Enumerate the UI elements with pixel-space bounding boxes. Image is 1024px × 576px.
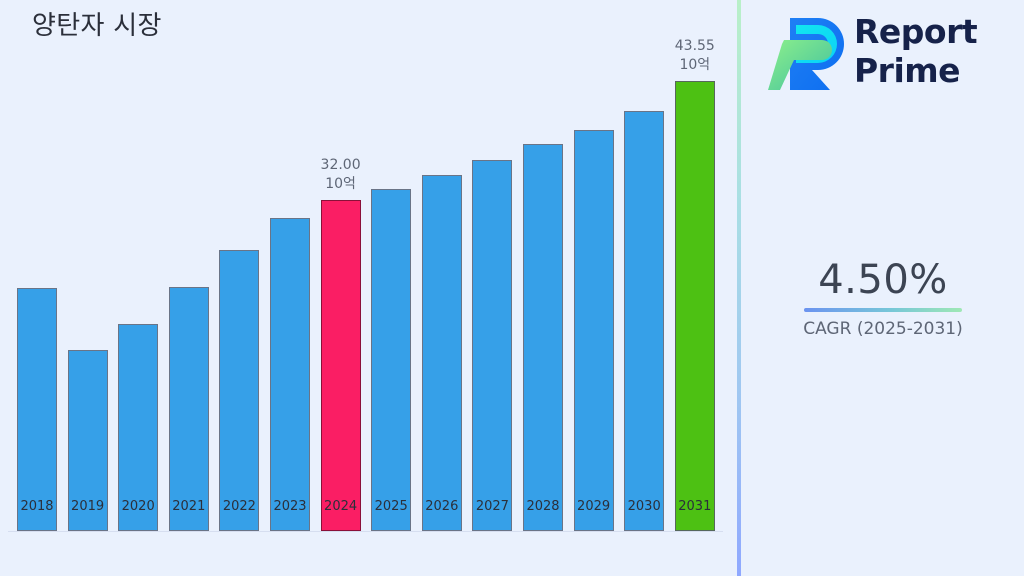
bar-2022[interactable] (219, 250, 259, 531)
bar-2031[interactable] (675, 81, 715, 531)
x-axis-label-2019: 2019 (68, 499, 108, 515)
x-axis-label-2027: 2027 (472, 499, 512, 515)
bar-2029[interactable] (574, 130, 614, 531)
bar-value-label-2031: 43.55 10억 (651, 37, 739, 75)
bar-2021[interactable] (169, 287, 209, 531)
cagr-divider-rule (804, 308, 962, 312)
x-axis-label-2021: 2021 (169, 499, 209, 515)
x-axis-label-2031: 2031 (675, 499, 715, 515)
bar-chart-plot-area: 20182019202020212022202332.00 10억2024202… (0, 0, 738, 576)
bar-2026[interactable] (422, 175, 462, 531)
bar-2023[interactable] (270, 218, 310, 531)
cagr-label: CAGR (2025-2031) (742, 318, 1024, 340)
report-prime-logo: Report Prime (766, 10, 1006, 94)
chart-screenshot: 양탄자 시장 20182019202020212022202332.00 10억… (0, 0, 1024, 576)
x-axis-baseline (8, 531, 723, 532)
panel-divider (737, 0, 741, 576)
x-axis-label-2029: 2029 (574, 499, 614, 515)
bar-2030[interactable] (624, 111, 664, 531)
cagr-block: 4.50% CAGR (2025-2031) (742, 255, 1024, 340)
cagr-value: 4.50% (742, 255, 1024, 305)
bar-2025[interactable] (371, 189, 411, 531)
report-prime-r-mark-icon (766, 12, 852, 92)
x-axis-label-2026: 2026 (422, 499, 462, 515)
bar-2024[interactable] (321, 200, 361, 531)
chart-panel: 양탄자 시장 20182019202020212022202332.00 10억… (0, 0, 738, 576)
x-axis-label-2023: 2023 (270, 499, 310, 515)
brand-wordmark: Report Prime (854, 12, 1004, 90)
x-axis-label-2030: 2030 (624, 499, 664, 515)
brand-name-line1: Report (854, 12, 1004, 51)
x-axis-label-2025: 2025 (371, 499, 411, 515)
x-axis-label-2018: 2018 (17, 499, 57, 515)
side-panel: Report Prime 4.50% CAGR (2025-2031) (742, 0, 1024, 576)
bar-2028[interactable] (523, 144, 563, 531)
x-axis-label-2022: 2022 (219, 499, 259, 515)
x-axis-label-2020: 2020 (118, 499, 158, 515)
brand-name-line2: Prime (854, 51, 1004, 90)
bar-2018[interactable] (17, 288, 57, 531)
bar-2027[interactable] (472, 160, 512, 531)
x-axis-label-2028: 2028 (523, 499, 563, 515)
x-axis-label-2024: 2024 (321, 499, 361, 515)
